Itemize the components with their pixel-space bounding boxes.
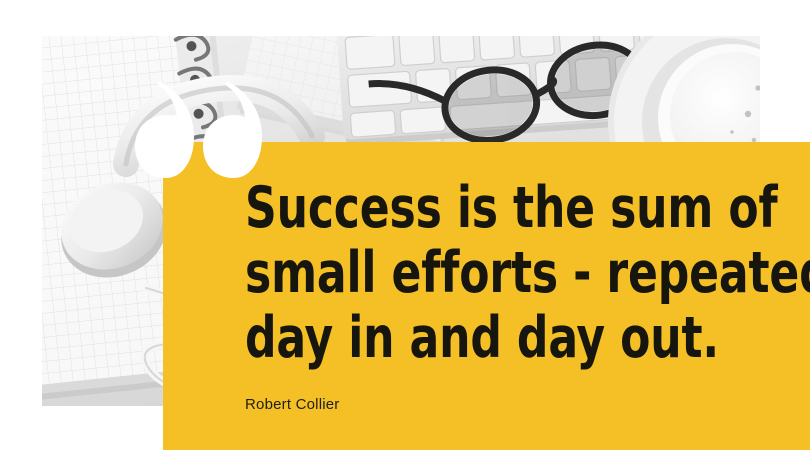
quote-line-3: day in and day out. [245, 306, 675, 371]
quote-card: CM ИТ ЬБ Ю. П [0, 0, 810, 450]
quote-line-2: small efforts - repeated [245, 241, 675, 306]
quote-attribution: Robert Collier [245, 396, 340, 413]
quote-line-1: Success is the sum of [245, 176, 675, 241]
quote-text: Success is the sum of small efforts - re… [245, 176, 675, 371]
